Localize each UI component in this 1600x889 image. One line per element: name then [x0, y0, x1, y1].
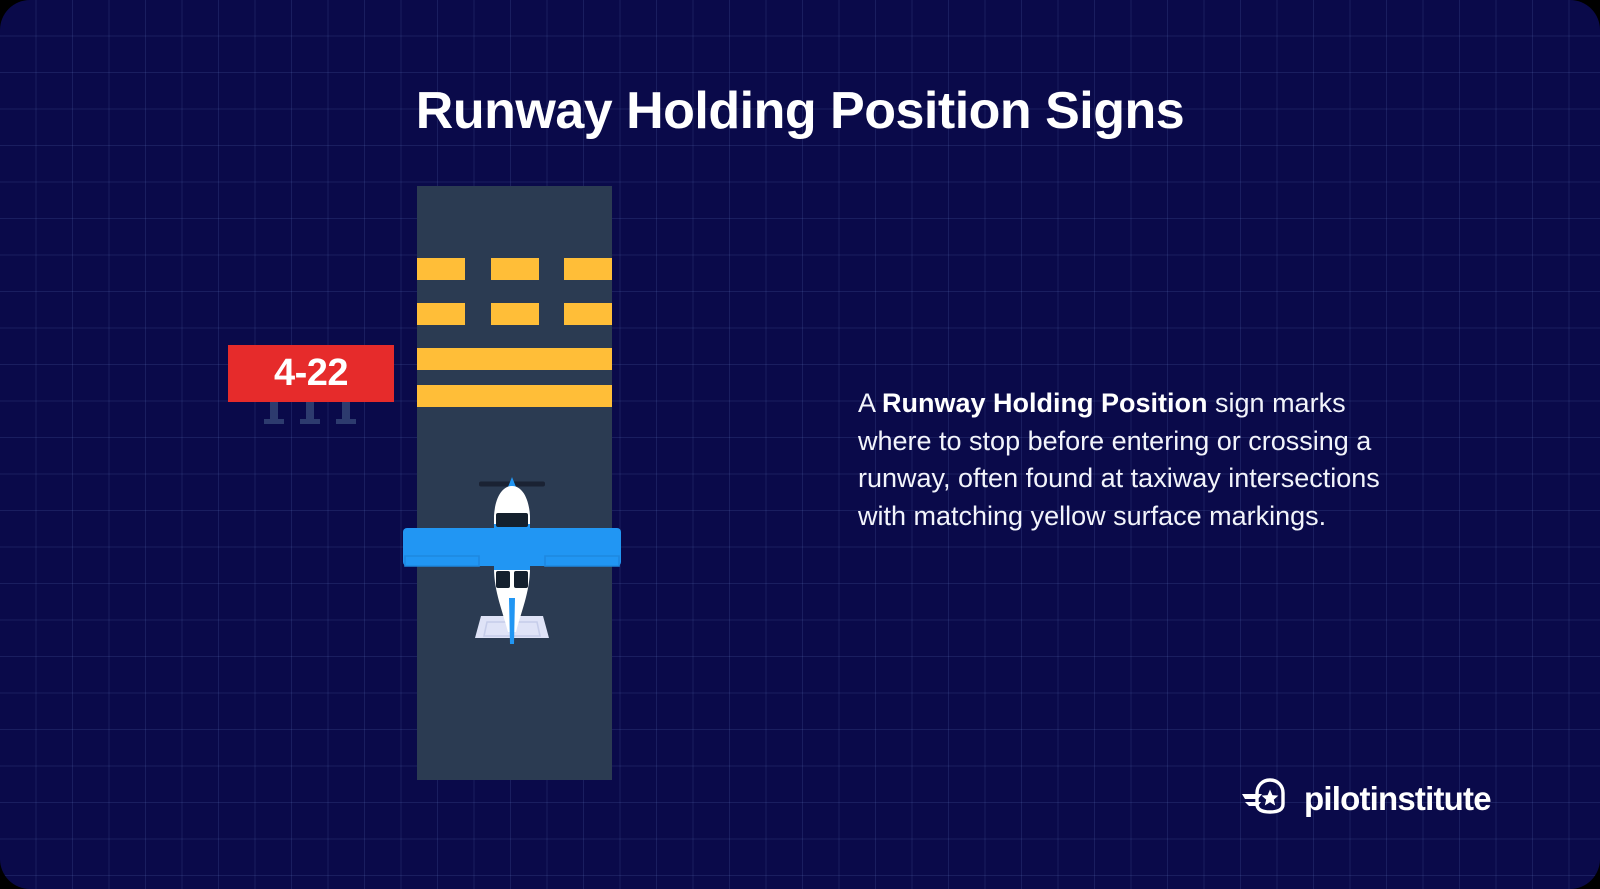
sign-support-legs: [228, 402, 394, 430]
description-lead: A: [858, 388, 882, 418]
dash-segment: [491, 303, 539, 325]
sign-leg: [342, 402, 350, 424]
infographic-card: Runway Holding Position Signs: [0, 0, 1600, 889]
airplane-illustration: [403, 472, 621, 644]
brand-wordmark: pilotinstitute: [1304, 782, 1491, 815]
page-title: Runway Holding Position Signs: [0, 83, 1600, 140]
winged-star-badge-icon: [1242, 778, 1292, 819]
sign-leg: [306, 402, 314, 424]
sign-leg: [270, 402, 278, 424]
description-emphasis: Runway Holding Position: [882, 388, 1208, 418]
holding-position-solid-line-1: [417, 348, 612, 370]
dash-segment: [564, 258, 612, 280]
holding-position-dashed-row-1: [417, 258, 612, 280]
dash-segment: [417, 258, 465, 280]
holding-position-solid-line-2: [417, 385, 612, 407]
runway-holding-position-sign: 4-22: [228, 345, 394, 402]
dash-segment: [491, 258, 539, 280]
dash-segment: [417, 303, 465, 325]
description-text: A Runway Holding Position sign marks whe…: [858, 385, 1410, 535]
brand-logo[interactable]: pilotinstitute: [1242, 778, 1491, 819]
runway-sign-label: 4-22: [274, 352, 348, 395]
holding-position-dashed-row-2: [417, 303, 612, 325]
dash-segment: [564, 303, 612, 325]
